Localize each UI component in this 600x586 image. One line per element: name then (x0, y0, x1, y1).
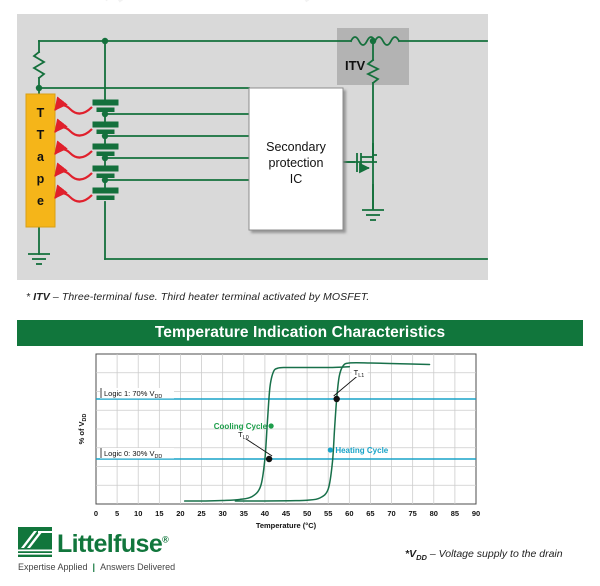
ttape-char: T (37, 106, 45, 120)
ground-symbol-ttape (28, 254, 50, 264)
section-title-text: Temperature Indication Characteristics (155, 324, 445, 342)
tagline-divider: | (93, 562, 96, 572)
svg-text:70: 70 (387, 509, 395, 518)
littelfuse-logo-mark (18, 527, 52, 557)
heat-flow-arrows (55, 105, 92, 201)
ic-label-line: protection (269, 156, 324, 170)
ttape-char: p (37, 172, 45, 186)
svg-text:35: 35 (240, 509, 248, 518)
page-watermark (0, 0, 600, 14)
mosfet-symbol (343, 144, 373, 210)
svg-text:15: 15 (155, 509, 163, 518)
svg-text:50: 50 (303, 509, 311, 518)
svg-text:65: 65 (366, 509, 374, 518)
svg-text:30: 30 (218, 509, 226, 518)
svg-text:60: 60 (345, 509, 353, 518)
x-axis-tick-labels: 051015202530354045505560657075808590 (94, 509, 480, 518)
svg-text:80: 80 (430, 509, 438, 518)
ttape-char: a (37, 150, 45, 164)
footnote-term: ITV (33, 291, 50, 303)
littelfuse-logo: Littelfuse® Expertise Applied | Answers … (18, 527, 198, 579)
littelfuse-wordmark: Littelfuse® (57, 532, 168, 557)
ttape-char: e (37, 194, 44, 208)
temperature-indication-chart: TL0TL1 Logic 1: 70% VDDLogic 0: 30% VDD … (74, 352, 500, 538)
svg-text:55: 55 (324, 509, 332, 518)
svg-text:10: 10 (134, 509, 142, 518)
ic-label-line: Secondary (266, 140, 327, 154)
ic-label-line: IC (290, 172, 303, 186)
vdd-symbol-subscript: DD (416, 553, 427, 562)
chart-canvas: TL0TL1 Logic 1: 70% VDDLogic 0: 30% VDD … (74, 352, 500, 538)
svg-text:75: 75 (408, 509, 416, 518)
svg-text:20: 20 (176, 509, 184, 518)
itv-footnote: * ITV – Three-terminal fuse. Third heate… (26, 291, 369, 303)
section-title-bar: Temperature Indication Characteristics (17, 320, 583, 346)
svg-text:25: 25 (197, 509, 205, 518)
ttape-char: T (37, 128, 45, 142)
vdd-footnote: *VDD – Voltage supply to the drain (405, 548, 563, 562)
svg-text:Cooling Cycle: Cooling Cycle (214, 422, 268, 431)
svg-text:90: 90 (472, 509, 480, 518)
svg-text:Heating Cycle: Heating Cycle (335, 446, 388, 455)
circuit-schematic: T T a p e Secondary protection IC ITV + … (17, 14, 488, 280)
logo-tagline: Expertise Applied | Answers Delivered (18, 562, 198, 572)
svg-text:40: 40 (261, 509, 269, 518)
tagline-right: Answers Delivered (100, 562, 175, 572)
logo-registered-mark: ® (162, 535, 168, 545)
svg-text:5: 5 (115, 509, 119, 518)
circuit-diagram-panel: T T a p e Secondary protection IC ITV + … (17, 14, 488, 280)
svg-text:45: 45 (282, 509, 290, 518)
logo-word-text: Littelfuse (57, 530, 162, 558)
footnote-text: – Three-terminal fuse. Third heater term… (50, 291, 370, 303)
svg-text:85: 85 (451, 509, 459, 518)
x-axis-title: Temperature (°C) (256, 521, 317, 530)
svg-text:0: 0 (94, 509, 98, 518)
itv-label: ITV (345, 58, 366, 73)
tagline-left: Expertise Applied (18, 562, 88, 572)
vdd-text: – Voltage supply to the drain (430, 548, 563, 560)
svg-text:% of VDD: % of VDD (77, 414, 88, 445)
y-axis-title: % of VDD (77, 414, 88, 445)
